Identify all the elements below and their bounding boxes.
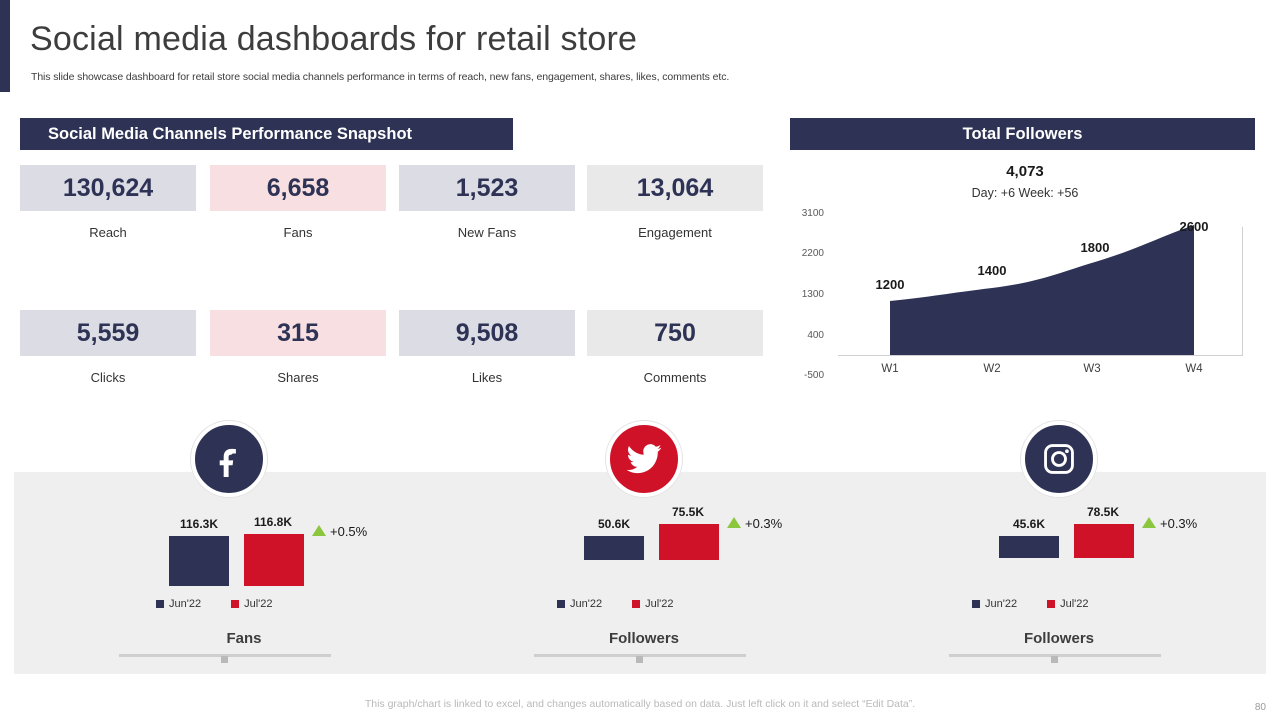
kpi-label-shares: Shares — [210, 370, 386, 385]
tw-delta: +0.3% — [745, 516, 782, 531]
facebook-block: 116.3K 116.8K +0.5% Jun'22 Jul'22 Fans — [14, 472, 434, 674]
fb-bar-label-jul: 116.8K — [238, 515, 308, 529]
ig-legend: Jun'22 Jul'22 — [972, 598, 1088, 610]
fb-bar-label-jun: 116.3K — [164, 517, 234, 531]
tw-legend-jun: Jun'22 — [557, 598, 602, 610]
fb-legend-jul: Jul'22 — [231, 598, 272, 610]
fb-legend-jun: Jun'22 — [156, 598, 201, 610]
fb-legend-swatch-jun — [156, 600, 164, 608]
kpi-card-shares: 315 — [210, 310, 386, 356]
tw-bar-label-jul: 75.5K — [653, 505, 723, 519]
fb-legend-jun-label: Jun'22 — [169, 598, 201, 610]
fb-delta: +0.5% — [330, 524, 367, 539]
fb-legend-swatch-jul — [231, 600, 239, 608]
ig-legend-jul: Jul'22 — [1047, 598, 1088, 610]
point-label-w3: 1800 — [1065, 240, 1125, 255]
kpi-label-clicks: Clicks — [20, 370, 196, 385]
page-number: 80 — [1255, 702, 1266, 713]
fb-up-arrow-icon — [312, 525, 326, 536]
footer-note: This graph/chart is linked to excel, and… — [0, 698, 1280, 710]
tw-legend-jul-label: Jul'22 — [645, 598, 673, 610]
ig-delta: +0.3% — [1160, 516, 1197, 531]
tw-bar-jun[interactable] — [584, 536, 644, 560]
kpi-label-likes: Likes — [399, 370, 575, 385]
accent-bar — [0, 0, 10, 92]
xtick-w2: W2 — [962, 363, 1022, 375]
page-subtitle: This slide showcase dashboard for retail… — [31, 71, 729, 83]
point-label-w2: 1400 — [962, 263, 1022, 278]
point-label-w4: 2600 — [1164, 219, 1224, 234]
tw-bar-jul[interactable] — [659, 524, 719, 560]
tw-up-arrow-icon — [727, 517, 741, 528]
ig-bar-label-jul: 78.5K — [1068, 505, 1138, 519]
fb-legend: Jun'22 Jul'22 — [156, 598, 272, 610]
point-label-w1: 1200 — [860, 277, 920, 292]
kpi-label-new-fans: New Fans — [399, 225, 575, 240]
kpi-label-engagement: Engagement — [587, 225, 763, 240]
twitter-block: 50.6K 75.5K +0.3% Jun'22 Jul'22 Follower… — [429, 472, 849, 674]
xtick-w1: W1 — [860, 363, 920, 375]
kpi-card-fans: 6,658 — [210, 165, 386, 211]
ig-bar-label-jun: 45.6K — [994, 517, 1064, 531]
ig-legend-jul-label: Jul'22 — [1060, 598, 1088, 610]
ig-bar-jun[interactable] — [999, 536, 1059, 558]
xtick-w4: W4 — [1164, 363, 1224, 375]
fb-bar-jul[interactable] — [244, 534, 304, 586]
kpi-card-reach: 130,624 — [20, 165, 196, 211]
kpi-card-likes: 9,508 — [399, 310, 575, 356]
area-series — [790, 155, 1260, 395]
ig-metric-name: Followers — [929, 630, 1189, 647]
tw-legend-swatch-jul — [632, 600, 640, 608]
total-followers-chart: 4,073 Day: +6 Week: +56 3100 2200 1300 4… — [790, 155, 1260, 395]
tw-legend-swatch-jun — [557, 600, 565, 608]
ig-bar-jul[interactable] — [1074, 524, 1134, 558]
ig-legend-swatch-jul — [1047, 600, 1055, 608]
kpi-label-reach: Reach — [20, 225, 196, 240]
fb-bar-jun[interactable] — [169, 536, 229, 586]
instagram-glyph — [1042, 442, 1076, 476]
xtick-w3: W3 — [1062, 363, 1122, 375]
tw-legend-jul: Jul'22 — [632, 598, 673, 610]
tw-bar-label-jun: 50.6K — [579, 517, 649, 531]
kpi-card-new-fans: 1,523 — [399, 165, 575, 211]
kpi-card-clicks: 5,559 — [20, 310, 196, 356]
tw-legend-jun-label: Jun'22 — [570, 598, 602, 610]
kpi-card-comments: 750 — [587, 310, 763, 356]
kpi-label-comments: Comments — [587, 370, 763, 385]
tw-legend: Jun'22 Jul'22 — [557, 598, 673, 610]
ig-metric-handle[interactable] — [1051, 656, 1058, 663]
ig-legend-jun: Jun'22 — [972, 598, 1017, 610]
kpi-label-fans: Fans — [210, 225, 386, 240]
fb-metric-name: Fans — [114, 630, 374, 647]
fb-legend-jul-label: Jul'22 — [244, 598, 272, 610]
kpi-card-engagement: 13,064 — [587, 165, 763, 211]
tw-metric-name: Followers — [514, 630, 774, 647]
page-title: Social media dashboards for retail store — [30, 20, 637, 59]
total-followers-header: Total Followers — [790, 118, 1255, 150]
ig-legend-swatch-jun — [972, 600, 980, 608]
instagram-block: 45.6K 78.5K +0.3% Jun'22 Jul'22 Follower… — [844, 472, 1264, 674]
tw-metric-handle[interactable] — [636, 656, 643, 663]
ig-legend-jun-label: Jun'22 — [985, 598, 1017, 610]
snapshot-header: Social Media Channels Performance Snapsh… — [20, 118, 513, 150]
fb-metric-handle[interactable] — [221, 656, 228, 663]
ig-up-arrow-icon — [1142, 517, 1156, 528]
